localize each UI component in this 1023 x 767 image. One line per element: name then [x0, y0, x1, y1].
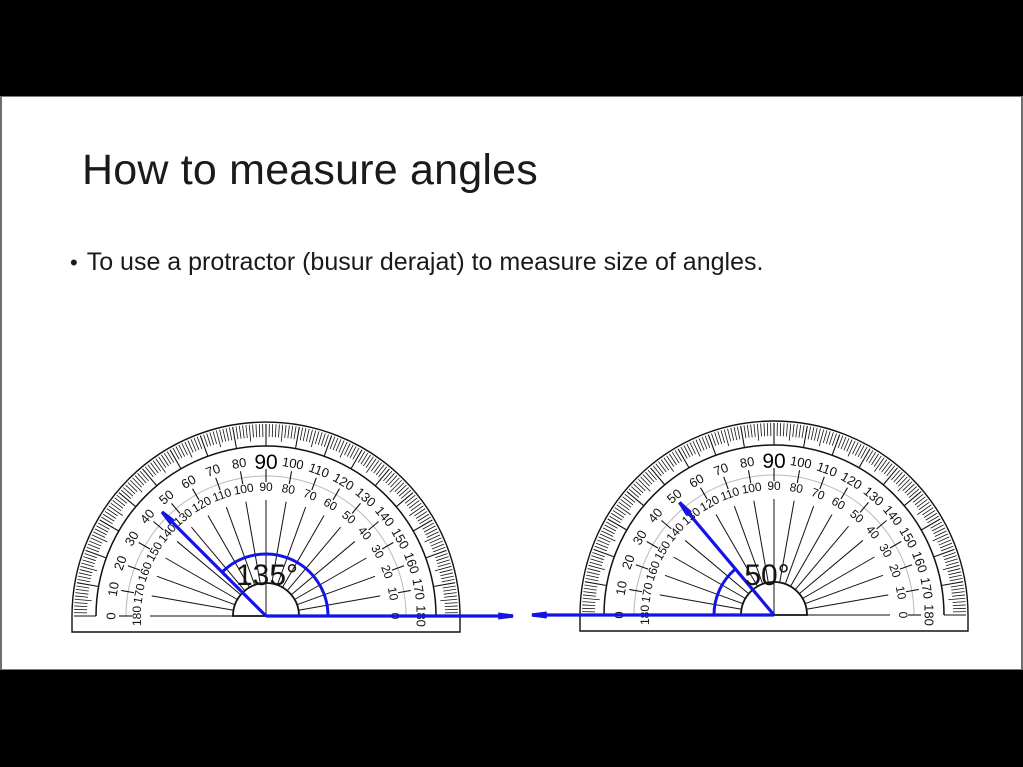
svg-text:180: 180 — [922, 604, 937, 626]
svg-text:90: 90 — [259, 480, 273, 494]
caption-angle-left: 135° — [32, 559, 502, 593]
bullet-item-text: To use a protractor (busur derajat) to m… — [87, 249, 764, 277]
svg-text:0: 0 — [103, 612, 118, 619]
svg-text:0: 0 — [896, 612, 910, 619]
page-title: How to measure angles — [82, 149, 538, 192]
figure-protractor-135: 1800170101602015030140401305012060110701… — [52, 303, 522, 553]
caption-angle-right: 50° — [532, 559, 1002, 593]
svg-text:90: 90 — [762, 450, 785, 473]
svg-text:90: 90 — [254, 451, 277, 474]
bullet-list: • To use a protractor (busur derajat) to… — [70, 249, 970, 277]
svg-text:90: 90 — [767, 479, 781, 493]
figure-protractor-50: 1800170101602015030140401305012060110701… — [530, 303, 1000, 553]
bullet-marker-icon: • — [70, 252, 78, 274]
protractor-left-graphic: 1800170101602015030140401305012060110701… — [52, 303, 522, 553]
slide-letterbox-frame: How to measure angles • To use a protrac… — [0, 0, 1023, 767]
svg-text:80: 80 — [739, 454, 756, 471]
protractor-right-graphic: 1800170101602015030140401305012060110701… — [530, 303, 1000, 553]
svg-text:80: 80 — [281, 481, 297, 497]
slide-canvas: How to measure angles • To use a protrac… — [0, 96, 1023, 670]
svg-text:80: 80 — [231, 455, 248, 472]
svg-text:180: 180 — [130, 606, 144, 626]
svg-text:80: 80 — [789, 480, 805, 496]
